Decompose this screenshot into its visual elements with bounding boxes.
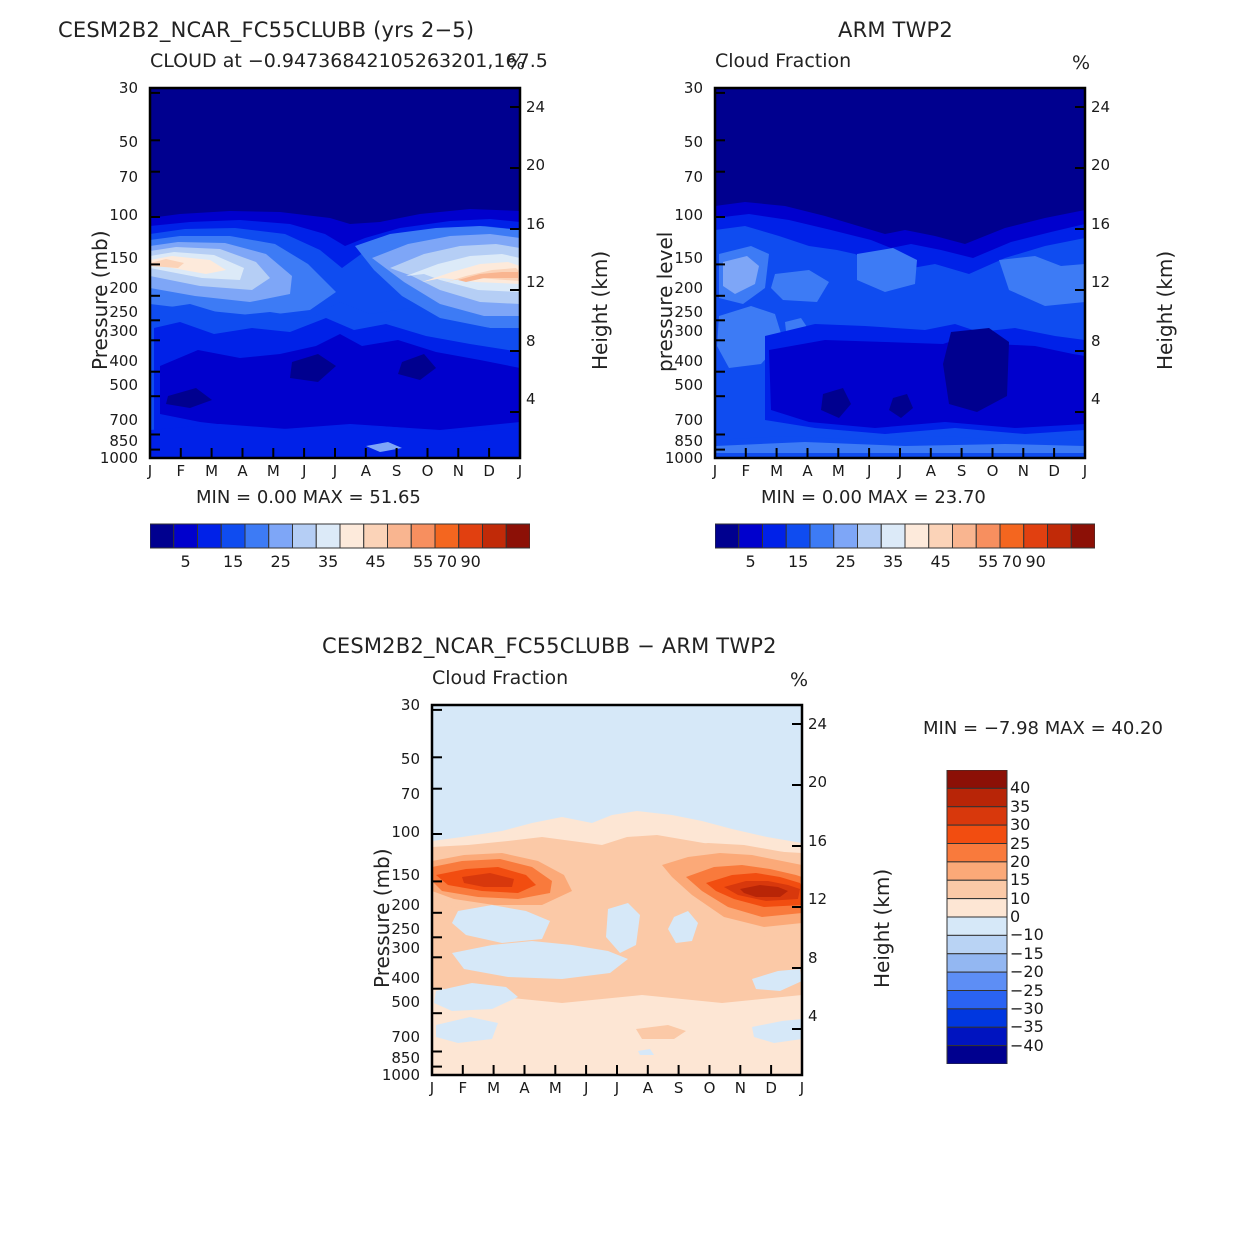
colorbar-swatch-10[interactable] [388, 524, 412, 548]
pressure-tick-obs-50: 50 [647, 133, 703, 151]
colorbar-swatch-7[interactable] [881, 524, 905, 548]
month-tick-model-8: S [387, 462, 407, 480]
diff-colorbar-swatch-6[interactable] [947, 880, 1007, 898]
month-tick-obs-12: J [1075, 462, 1095, 480]
diff-colorbar-swatch-3[interactable] [947, 825, 1007, 843]
colorbar-label-15: 15 [217, 552, 249, 571]
month-tick-difference-7: A [638, 1079, 658, 1097]
panel-model-title: CESM2B2_NCAR_FC55CLUBB (yrs 2−5) [58, 18, 474, 42]
height-tick-difference-4: 4 [808, 1007, 818, 1025]
height-tick-obs-20: 20 [1091, 156, 1110, 174]
panel-model-minmax: MIN = 0.00 MAX = 51.65 [196, 487, 421, 508]
pressure-tick-obs-250: 250 [647, 303, 703, 321]
colorbar-swatch-2[interactable] [763, 524, 787, 548]
colorbar-swatch-9[interactable] [364, 524, 388, 548]
diff-colorbar-swatch-11[interactable] [947, 972, 1007, 990]
colorbar-swatch-12[interactable] [435, 524, 459, 548]
month-tick-model-11: D [479, 462, 499, 480]
height-tick-obs-8: 8 [1091, 332, 1101, 350]
diff-colorbar-swatch-0[interactable] [947, 770, 1007, 788]
height-tick-obs-4: 4 [1091, 390, 1101, 408]
pressure-tick-model-400: 400 [82, 352, 138, 370]
colorbar-swatch-1[interactable] [174, 524, 198, 548]
pressure-tick-model-200: 200 [82, 279, 138, 297]
height-tick-model-4: 4 [526, 390, 536, 408]
month-tick-model-6: J [325, 462, 345, 480]
colorbar-swatch-13[interactable] [459, 524, 483, 548]
height-tick-obs-24: 24 [1091, 98, 1110, 116]
diff-colorbar-label-13: −35 [1010, 1017, 1044, 1036]
panel-model-contour-field [150, 88, 520, 458]
pressure-tick-obs-400: 400 [647, 352, 703, 370]
month-tick-difference-0: J [422, 1079, 442, 1097]
pressure-tick-model-100: 100 [82, 206, 138, 224]
month-tick-model-4: M [263, 462, 283, 480]
panel-difference-title: CESM2B2_NCAR_FC55CLUBB − ARM TWP2 [322, 634, 777, 658]
panel-model-subtitle-left: CLOUD at −0.94736842105263201,167.5 [150, 50, 548, 72]
panel-difference-subtitle-left: Cloud Fraction [432, 667, 568, 689]
pressure-tick-difference-200: 200 [364, 896, 420, 914]
diff-colorbar-label-1: 35 [1010, 797, 1030, 816]
month-tick-model-12: J [510, 462, 530, 480]
pressure-tick-difference-400: 400 [364, 969, 420, 987]
panel-model-units: % [507, 52, 525, 74]
height-tick-model-24: 24 [526, 98, 545, 116]
colorbar-label-90: 90 [455, 552, 487, 571]
month-tick-obs-9: O [983, 462, 1003, 480]
pressure-tick-model-70: 70 [82, 168, 138, 186]
colorbar-swatch-11[interactable] [411, 524, 435, 548]
diff-colorbar-label-14: −40 [1010, 1036, 1044, 1055]
month-tick-obs-1: F [736, 462, 756, 480]
colorbar-swatch-2[interactable] [198, 524, 222, 548]
colorbar-label-90: 90 [1020, 552, 1052, 571]
diff-colorbar-label-9: −15 [1010, 944, 1044, 963]
pressure-tick-obs-150: 150 [647, 249, 703, 267]
pressure-tick-difference-250: 250 [364, 920, 420, 938]
diff-colorbar-swatch-7[interactable] [947, 899, 1007, 917]
panel-difference-plot [422, 695, 822, 1095]
pressure-tick-model-30: 30 [82, 79, 138, 97]
diff-colorbar-swatch-1[interactable] [947, 788, 1007, 806]
colorbar-label-45: 45 [925, 552, 957, 571]
colorbar-swatch-9[interactable] [929, 524, 953, 548]
panel-difference-units: % [790, 669, 808, 691]
colorbar-swatch-11[interactable] [976, 524, 1000, 548]
month-tick-model-7: A [356, 462, 376, 480]
colorbar-swatch-8[interactable] [340, 524, 364, 548]
month-tick-obs-3: A [798, 462, 818, 480]
panel-obs-plot [705, 78, 1105, 478]
colorbar-swatch-1[interactable] [739, 524, 763, 548]
pressure-tick-difference-70: 70 [364, 785, 420, 803]
colorbar-label-5: 5 [170, 552, 202, 571]
diff-colorbar-label-5: 15 [1010, 870, 1030, 889]
diff-colorbar-label-7: 0 [1010, 907, 1020, 926]
panel-model-ylabel-height: Height (km) [588, 251, 612, 370]
pressure-tick-difference-30: 30 [364, 696, 420, 714]
diff-colorbar-label-10: −20 [1010, 962, 1044, 981]
pressure-tick-model-50: 50 [82, 133, 138, 151]
pressure-tick-difference-150: 150 [364, 866, 420, 884]
colorbar-swatch-0[interactable] [715, 524, 739, 548]
colorbar-label-15: 15 [782, 552, 814, 571]
pressure-tick-model-700: 700 [82, 411, 138, 429]
height-tick-model-12: 12 [526, 273, 545, 291]
colorbar-swatch-14[interactable] [483, 524, 507, 548]
pressure-tick-obs-700: 700 [647, 411, 703, 429]
height-tick-obs-16: 16 [1091, 215, 1110, 233]
pressure-tick-difference-500: 500 [364, 993, 420, 1011]
diff-colorbar-label-11: −25 [1010, 981, 1044, 1000]
month-tick-difference-3: A [515, 1079, 535, 1097]
diff-colorbar-swatch-15[interactable] [947, 1046, 1007, 1064]
panel-obs-colorbar-labels: 515253545557090 [715, 552, 1095, 576]
panel-model-colorbar[interactable] [150, 523, 530, 549]
pressure-tick-model-850: 850 [82, 432, 138, 450]
colorbar-swatch-6[interactable] [293, 524, 317, 548]
month-tick-model-3: A [233, 462, 253, 480]
diff-colorbar-swatch-13[interactable] [947, 1009, 1007, 1027]
colorbar-swatch-15[interactable] [1071, 524, 1095, 548]
height-tick-difference-24: 24 [808, 715, 827, 733]
month-tick-obs-8: S [952, 462, 972, 480]
colorbar-swatch-3[interactable] [221, 524, 245, 548]
panel-obs-subtitle-left: Cloud Fraction [715, 50, 851, 72]
diff-colorbar-swatch-10[interactable] [947, 954, 1007, 972]
pressure-tick-model-150: 150 [82, 249, 138, 267]
colorbar-label-25: 25 [265, 552, 297, 571]
height-tick-model-8: 8 [526, 332, 536, 350]
pressure-tick-difference-100: 100 [364, 823, 420, 841]
month-tick-obs-7: A [921, 462, 941, 480]
month-tick-model-0: J [140, 462, 160, 480]
panel-model-colorbar-labels: 515253545557090 [150, 552, 530, 576]
pressure-tick-difference-50: 50 [364, 750, 420, 768]
pressure-tick-model-300: 300 [82, 322, 138, 340]
month-tick-model-5: J [294, 462, 314, 480]
pressure-tick-obs-850: 850 [647, 432, 703, 450]
pressure-tick-difference-300: 300 [364, 939, 420, 957]
month-tick-difference-9: O [700, 1079, 720, 1097]
colorbar-swatch-4[interactable] [810, 524, 834, 548]
pressure-tick-difference-850: 850 [364, 1049, 420, 1067]
month-tick-difference-12: J [792, 1079, 812, 1097]
colorbar-label-25: 25 [830, 552, 862, 571]
height-tick-difference-20: 20 [808, 773, 827, 791]
diff-colorbar-label-8: −10 [1010, 925, 1044, 944]
colorbar-swatch-6[interactable] [858, 524, 882, 548]
diff-colorbar-swatch-2[interactable] [947, 807, 1007, 825]
diff-colorbar-label-4: 20 [1010, 852, 1030, 871]
month-tick-obs-6: J [890, 462, 910, 480]
pressure-tick-model-1000: 1000 [82, 449, 138, 467]
colorbar-label-45: 45 [360, 552, 392, 571]
panel-obs-units: % [1072, 52, 1090, 74]
panel-obs-title: ARM TWP2 [838, 18, 953, 42]
colorbar-swatch-13[interactable] [1024, 524, 1048, 548]
diff-colorbar-swatch-4[interactable] [947, 844, 1007, 862]
panel-difference-contour-field [432, 705, 802, 1075]
pressure-tick-obs-300: 300 [647, 322, 703, 340]
month-tick-difference-10: N [730, 1079, 750, 1097]
month-tick-difference-2: M [484, 1079, 504, 1097]
colorbar-label-35: 35 [312, 552, 344, 571]
month-tick-obs-11: D [1044, 462, 1064, 480]
pressure-tick-model-500: 500 [82, 376, 138, 394]
height-tick-obs-12: 12 [1091, 273, 1110, 291]
colorbar-swatch-12[interactable] [1000, 524, 1024, 548]
month-tick-obs-0: J [705, 462, 725, 480]
month-tick-difference-1: F [453, 1079, 473, 1097]
diff-colorbar-label-2: 30 [1010, 815, 1030, 834]
panel-difference-colorbar[interactable] [946, 770, 1008, 1064]
month-tick-difference-6: J [607, 1079, 627, 1097]
pressure-tick-difference-1000: 1000 [364, 1066, 420, 1084]
height-tick-difference-16: 16 [808, 832, 827, 850]
panel-difference-minmax: MIN = −7.98 MAX = 40.20 [923, 718, 1163, 739]
month-tick-model-2: M [202, 462, 222, 480]
panel-model-plot [140, 78, 540, 478]
pressure-tick-model-250: 250 [82, 303, 138, 321]
panel-difference-colorbar-labels: 403530252015100−10−15−20−25−30−35−40 [1010, 770, 1080, 1064]
height-tick-difference-8: 8 [808, 949, 818, 967]
month-tick-model-10: N [448, 462, 468, 480]
colorbar-swatch-0[interactable] [150, 524, 174, 548]
colorbar-swatch-10[interactable] [953, 524, 977, 548]
panel-difference-ylabel-height: Height (km) [870, 869, 894, 988]
pressure-tick-obs-200: 200 [647, 279, 703, 297]
colorbar-swatch-5[interactable] [834, 524, 858, 548]
diff-colorbar-swatch-5[interactable] [947, 862, 1007, 880]
colorbar-swatch-5[interactable] [269, 524, 293, 548]
colorbar-label-35: 35 [877, 552, 909, 571]
pressure-tick-difference-700: 700 [364, 1028, 420, 1046]
month-tick-obs-10: N [1013, 462, 1033, 480]
diff-colorbar-swatch-9[interactable] [947, 935, 1007, 953]
colorbar-swatch-3[interactable] [786, 524, 810, 548]
colorbar-swatch-14[interactable] [1048, 524, 1072, 548]
colorbar-label-5: 5 [735, 552, 767, 571]
month-tick-model-9: O [418, 462, 438, 480]
height-tick-model-16: 16 [526, 215, 545, 233]
panel-obs-colorbar[interactable] [715, 523, 1095, 549]
diff-colorbar-label-6: 10 [1010, 889, 1030, 908]
pressure-tick-obs-500: 500 [647, 376, 703, 394]
colorbar-swatch-15[interactable] [506, 524, 530, 548]
diff-colorbar-swatch-12[interactable] [947, 991, 1007, 1009]
colorbar-swatch-4[interactable] [245, 524, 269, 548]
colorbar-swatch-8[interactable] [905, 524, 929, 548]
pressure-tick-obs-1000: 1000 [647, 449, 703, 467]
month-tick-obs-4: M [828, 462, 848, 480]
panel-obs-ylabel-height: Height (km) [1153, 251, 1177, 370]
month-tick-model-1: F [171, 462, 191, 480]
panel-obs-minmax: MIN = 0.00 MAX = 23.70 [761, 487, 986, 508]
panel-obs-contour-field [715, 88, 1085, 458]
colorbar-swatch-7[interactable] [316, 524, 340, 548]
month-tick-difference-8: S [669, 1079, 689, 1097]
diff-colorbar-swatch-8[interactable] [947, 917, 1007, 935]
pressure-tick-obs-100: 100 [647, 206, 703, 224]
month-tick-difference-11: D [761, 1079, 781, 1097]
month-tick-difference-4: M [545, 1079, 565, 1097]
month-tick-obs-2: M [767, 462, 787, 480]
diff-colorbar-label-0: 40 [1010, 778, 1030, 797]
diff-colorbar-label-12: −30 [1010, 999, 1044, 1018]
diff-colorbar-swatch-14[interactable] [947, 1027, 1007, 1045]
diff-colorbar-label-3: 25 [1010, 834, 1030, 853]
month-tick-difference-5: J [576, 1079, 596, 1097]
pressure-tick-obs-30: 30 [647, 79, 703, 97]
month-tick-obs-5: J [859, 462, 879, 480]
height-tick-model-20: 20 [526, 156, 545, 174]
height-tick-difference-12: 12 [808, 890, 827, 908]
pressure-tick-obs-70: 70 [647, 168, 703, 186]
